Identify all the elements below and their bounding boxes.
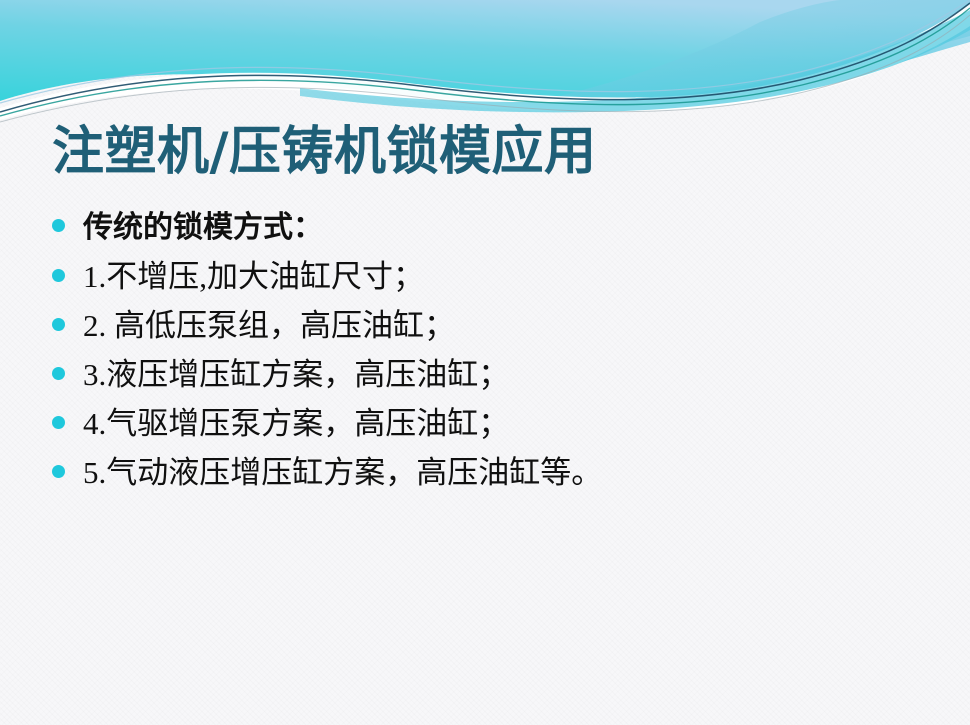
list-item-label: 5.气动液压增压缸方案，高压油缸等。 [83, 453, 932, 493]
bullet-list: 传统的锁模方式： 1.不增压,加大油缸尺寸； 2. 高低压泵组，高压油缸； 3.… [52, 208, 932, 502]
list-item[interactable]: 2. 高低压泵组，高压油缸； [52, 306, 932, 355]
bullet-dot-icon [52, 269, 65, 282]
list-item-label: 2. 高低压泵组，高压油缸； [83, 306, 932, 346]
list-item[interactable]: 1.不增压,加大油缸尺寸； [52, 257, 932, 306]
list-item[interactable]: 3.液压增压缸方案，高压油缸； [52, 355, 932, 404]
presentation-slide: 注塑机/压铸机锁模应用 传统的锁模方式： 1.不增压,加大油缸尺寸； 2. 高低… [0, 0, 970, 725]
bullet-dot-icon [52, 367, 65, 380]
slide-content: 注塑机/压铸机锁模应用 传统的锁模方式： 1.不增压,加大油缸尺寸； 2. 高低… [0, 0, 970, 725]
list-item[interactable]: 5.气动液压增压缸方案，高压油缸等。 [52, 453, 932, 502]
list-item[interactable]: 传统的锁模方式： [52, 208, 932, 257]
list-item-label: 传统的锁模方式： [83, 208, 932, 248]
page-title: 注塑机/压铸机锁模应用 [52, 124, 597, 180]
list-item-label: 1.不增压,加大油缸尺寸； [83, 257, 932, 297]
bullet-dot-icon [52, 219, 65, 232]
list-item[interactable]: 4.气驱增压泵方案，高压油缸； [52, 404, 932, 453]
bullet-dot-icon [52, 465, 65, 478]
bullet-dot-icon [52, 318, 65, 331]
bullet-dot-icon [52, 416, 65, 429]
list-item-label: 3.液压增压缸方案，高压油缸； [83, 355, 932, 395]
list-item-label: 4.气驱增压泵方案，高压油缸； [83, 404, 932, 444]
